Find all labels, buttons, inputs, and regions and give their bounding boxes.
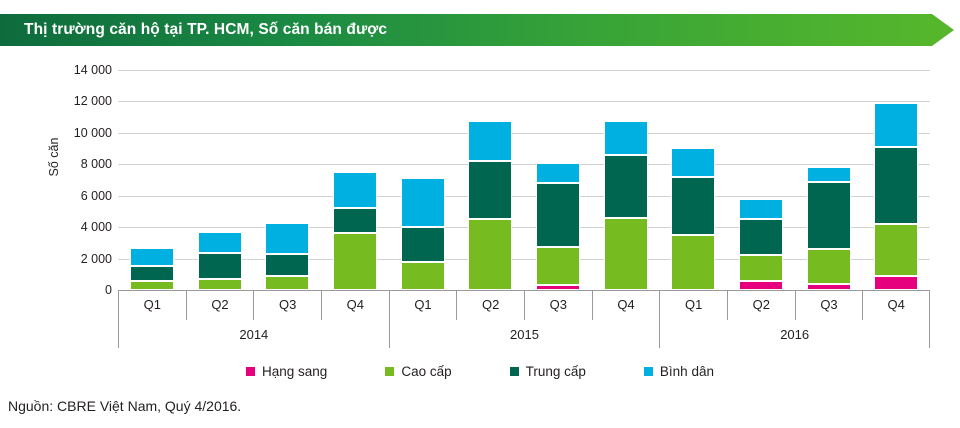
- x-axis-quarter-label: Q4: [862, 290, 930, 320]
- bar-segment[interactable]: [671, 148, 715, 177]
- legend-swatch-icon: [644, 367, 653, 376]
- y-axis-tick-label: 6 000: [12, 189, 112, 203]
- bar-segment[interactable]: [807, 182, 851, 250]
- x-axis-quarter-label: Q4: [592, 290, 660, 320]
- bar-segment[interactable]: [739, 199, 783, 219]
- legend-item[interactable]: Bình dân: [644, 364, 714, 379]
- bar-segment[interactable]: [739, 255, 783, 280]
- source-note: Nguồn: CBRE Việt Nam, Quý 4/2016.: [8, 398, 241, 414]
- bar-segment[interactable]: [536, 247, 580, 286]
- bar-segment[interactable]: [739, 219, 783, 255]
- bar-stack[interactable]: [401, 70, 445, 290]
- x-axis-quarter-label: Q3: [253, 290, 321, 320]
- bar-segment[interactable]: [468, 121, 512, 161]
- bar-stack[interactable]: [874, 70, 918, 290]
- bar-segment[interactable]: [265, 223, 309, 254]
- x-axis-quarter-label: Q1: [659, 290, 727, 320]
- bar-segment[interactable]: [874, 276, 918, 290]
- bar-segment[interactable]: [401, 178, 445, 228]
- bar-segment[interactable]: [604, 155, 648, 218]
- category-axis: Q1Q2Q3Q4Q1Q2Q3Q4Q1Q2Q3Q4201420152016: [118, 290, 930, 348]
- x-axis-year-label: 2016: [659, 320, 930, 348]
- bar-segment[interactable]: [401, 227, 445, 262]
- bar-stack[interactable]: [671, 70, 715, 290]
- bar-segment[interactable]: [198, 232, 242, 253]
- y-axis-tick-label: 2 000: [12, 252, 112, 266]
- x-axis-quarter-label: Q3: [524, 290, 592, 320]
- legend-label: Hạng sang: [262, 364, 327, 379]
- bar-segment[interactable]: [468, 161, 512, 219]
- legend-item[interactable]: Cao cấp: [385, 364, 451, 379]
- legend-swatch-icon: [246, 367, 255, 376]
- bar-stack[interactable]: [265, 70, 309, 290]
- bar-segment[interactable]: [333, 233, 377, 290]
- legend-label: Bình dân: [660, 364, 714, 379]
- x-axis-year-label: 2014: [118, 320, 389, 348]
- x-axis-year-label: 2015: [389, 320, 660, 348]
- bar-stack[interactable]: [130, 70, 174, 290]
- bar-segment[interactable]: [671, 177, 715, 235]
- legend-swatch-icon: [510, 367, 519, 376]
- legend-item[interactable]: Hạng sang: [246, 364, 327, 379]
- x-axis-quarter-label: Q2: [456, 290, 524, 320]
- bar-segment[interactable]: [604, 121, 648, 155]
- bar-segment[interactable]: [401, 262, 445, 290]
- bar-stack[interactable]: [604, 70, 648, 290]
- y-axis-tick-label: 14 000: [12, 63, 112, 77]
- bar-segment[interactable]: [333, 172, 377, 208]
- x-axis-quarter-label: Q1: [389, 290, 457, 320]
- bar-stack[interactable]: [333, 70, 377, 290]
- bar-segment[interactable]: [671, 235, 715, 290]
- bar-segment[interactable]: [739, 281, 783, 290]
- x-axis-quarter-label: Q2: [727, 290, 795, 320]
- bar-segment[interactable]: [198, 279, 242, 290]
- legend-item[interactable]: Trung cấp: [510, 364, 586, 379]
- y-axis-tick-label: 4 000: [12, 220, 112, 234]
- bar-stack[interactable]: [739, 70, 783, 290]
- legend-label: Trung cấp: [526, 364, 586, 379]
- title-banner-arrow: [932, 14, 954, 46]
- bar-segment[interactable]: [807, 167, 851, 181]
- plot-area: [118, 70, 930, 290]
- bar-segment[interactable]: [333, 208, 377, 233]
- bar-stack[interactable]: [536, 70, 580, 290]
- y-axis-tick-label: 0: [12, 283, 112, 297]
- bar-stack[interactable]: [198, 70, 242, 290]
- bar-segment[interactable]: [130, 281, 174, 290]
- bar-segment[interactable]: [874, 224, 918, 276]
- bar-segment[interactable]: [807, 249, 851, 284]
- x-axis-quarter-label: Q4: [321, 290, 389, 320]
- bar-stack[interactable]: [807, 70, 851, 290]
- y-axis-tick-label: 8 000: [12, 157, 112, 171]
- bar-stack[interactable]: [468, 70, 512, 290]
- chart-title-banner: Thị trường căn hộ tại TP. HCM, Số căn bá…: [0, 14, 960, 46]
- bar-segment[interactable]: [468, 219, 512, 290]
- bar-segment[interactable]: [265, 254, 309, 276]
- x-axis-quarter-label: Q3: [795, 290, 863, 320]
- x-axis-quarter-label: Q2: [186, 290, 254, 320]
- bar-segment[interactable]: [874, 147, 918, 224]
- bar-segment[interactable]: [198, 253, 242, 279]
- bar-segment[interactable]: [265, 276, 309, 290]
- legend-label: Cao cấp: [401, 364, 451, 379]
- bar-segment[interactable]: [536, 163, 580, 183]
- bar-segment[interactable]: [874, 103, 918, 147]
- bar-segment[interactable]: [130, 248, 174, 267]
- legend-swatch-icon: [385, 367, 394, 376]
- y-axis-tick-label: 12 000: [12, 94, 112, 108]
- bar-segment[interactable]: [130, 266, 174, 280]
- bar-segment[interactable]: [536, 183, 580, 247]
- bar-segment[interactable]: [604, 218, 648, 290]
- x-axis-quarter-label: Q1: [118, 290, 186, 320]
- y-axis-tick-label: 10 000: [12, 126, 112, 140]
- chart-legend: Hạng sangCao cấpTrung cấpBình dân: [0, 358, 960, 384]
